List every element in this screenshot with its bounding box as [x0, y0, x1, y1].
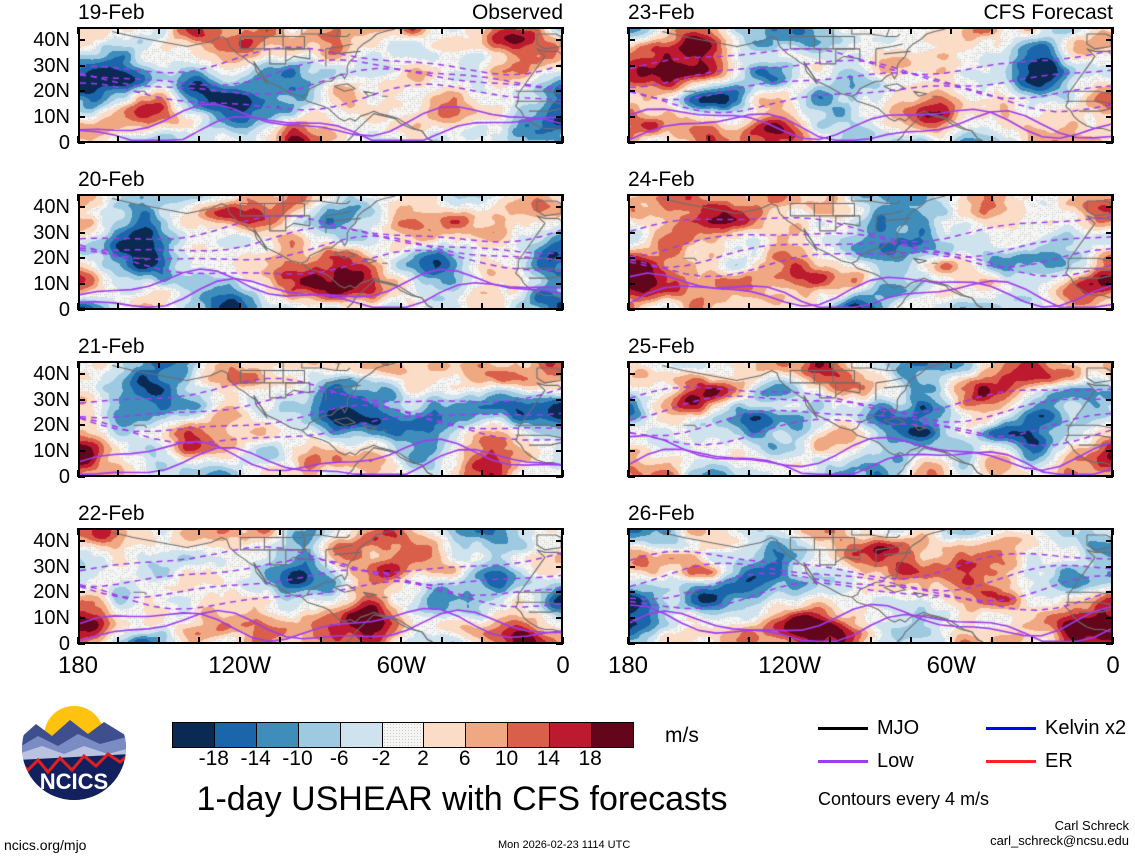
author-credit: Carl Schreck carl_schreck@ncsu.edu: [990, 818, 1129, 848]
x-tick: [748, 637, 750, 644]
x-tick: [708, 361, 710, 368]
y-tick: [556, 90, 563, 92]
y-tick: [78, 257, 85, 259]
x-tick: [360, 136, 362, 143]
x-tick: [117, 27, 119, 34]
y-tick: [1106, 591, 1113, 593]
y-tick: [628, 476, 635, 478]
y-axis-label: 30N: [0, 557, 70, 577]
colorbar-tick: 2: [417, 748, 429, 769]
x-tick: [870, 637, 872, 644]
author-name: Carl Schreck: [990, 818, 1129, 833]
y-tick: [78, 373, 85, 375]
y-tick: [1106, 65, 1113, 67]
y-axis-label: 40N: [0, 531, 70, 551]
x-tick: [829, 637, 831, 644]
y-axis-label: 30N: [0, 223, 70, 243]
x-axis-label: 180: [58, 654, 98, 678]
colorbar-segment: [424, 723, 466, 747]
legend-line-swatch: [986, 760, 1036, 763]
y-tick: [1106, 39, 1113, 41]
x-tick: [708, 637, 710, 644]
x-tick: [829, 303, 831, 310]
colorbar-segment: [215, 723, 257, 747]
x-tick: [320, 361, 322, 368]
x-tick: [950, 136, 952, 143]
y-tick: [556, 399, 563, 401]
x-tick: [562, 27, 564, 34]
shaded-field-canvas: [630, 530, 1111, 642]
x-tick: [1112, 27, 1114, 34]
y-tick: [1106, 540, 1113, 542]
y-tick: [628, 257, 635, 259]
y-tick: [1106, 309, 1113, 311]
legend-label: Low: [877, 751, 914, 771]
x-tick: [117, 361, 119, 368]
y-tick: [1106, 283, 1113, 285]
colorbar-tick: 18: [578, 748, 601, 769]
x-tick: [950, 194, 952, 201]
colorbar-tick: 14: [537, 748, 560, 769]
x-tick: [1112, 361, 1114, 368]
x-tick: [667, 136, 669, 143]
x-tick: [667, 528, 669, 535]
contour-interval-note: Contours every 4 m/s: [818, 790, 989, 808]
panel-date-label: 25-Feb: [628, 336, 695, 357]
x-tick: [279, 136, 281, 143]
page-title: 1-day USHEAR with CFS forecasts: [152, 782, 772, 816]
x-tick: [748, 194, 750, 201]
x-tick: [950, 528, 952, 535]
y-tick: [556, 591, 563, 593]
column-header-forecast: CFS Forecast: [983, 2, 1113, 23]
x-tick: [708, 528, 710, 535]
x-tick: [522, 303, 524, 310]
x-tick: [829, 470, 831, 477]
x-tick: [198, 194, 200, 201]
y-tick: [78, 65, 85, 67]
y-tick: [628, 116, 635, 118]
y-tick: [1106, 424, 1113, 426]
y-tick: [628, 643, 635, 645]
y-axis-label: 40N: [0, 197, 70, 217]
y-tick: [556, 206, 563, 208]
ncics-logo-svg: NCICS: [18, 696, 130, 800]
y-axis-label: 40N: [0, 364, 70, 384]
y-axis-label: 30N: [0, 56, 70, 76]
x-tick: [320, 27, 322, 34]
x-tick: [158, 303, 160, 310]
x-tick: [279, 528, 281, 535]
x-tick: [481, 27, 483, 34]
x-tick: [239, 303, 241, 310]
x-tick: [522, 528, 524, 535]
x-tick: [910, 361, 912, 368]
x-tick: [158, 637, 160, 644]
y-tick: [78, 450, 85, 452]
x-tick: [198, 303, 200, 310]
y-tick: [78, 116, 85, 118]
y-tick: [78, 476, 85, 478]
y-axis-label: 20N: [0, 248, 70, 268]
x-tick: [667, 194, 669, 201]
y-tick: [78, 424, 85, 426]
site-url[interactable]: ncics.org/mjo: [4, 838, 86, 852]
colorbar-unit-label: m/s: [665, 725, 699, 746]
y-tick: [78, 540, 85, 542]
x-tick: [991, 303, 993, 310]
y-tick: [78, 399, 85, 401]
x-tick: [441, 136, 443, 143]
x-tick: [400, 470, 402, 477]
panel-date-label: 21-Feb: [78, 336, 145, 357]
x-axis-label: 0: [556, 654, 569, 678]
y-tick: [628, 90, 635, 92]
x-tick: [1072, 528, 1074, 535]
x-tick: [748, 303, 750, 310]
x-tick: [522, 27, 524, 34]
x-tick: [360, 27, 362, 34]
x-tick: [239, 27, 241, 34]
colorbar-tick-labels: -18-14-10-6-226101418: [172, 748, 632, 774]
x-tick: [748, 361, 750, 368]
x-tick: [1031, 361, 1033, 368]
colorbar-segment: [341, 723, 383, 747]
y-tick: [556, 142, 563, 144]
x-tick: [789, 27, 791, 34]
legend-line-swatch: [986, 727, 1036, 730]
panel-date-label: 22-Feb: [78, 503, 145, 524]
panel-date-label: 24-Feb: [628, 169, 695, 190]
legend-label: ER: [1045, 751, 1073, 771]
x-tick: [870, 470, 872, 477]
x-tick: [1031, 194, 1033, 201]
y-tick: [1106, 617, 1113, 619]
y-tick: [78, 90, 85, 92]
map-panel-19-feb: [78, 27, 563, 143]
x-tick: [1072, 194, 1074, 201]
y-tick: [628, 617, 635, 619]
y-tick: [628, 142, 635, 144]
y-tick: [556, 65, 563, 67]
x-tick: [158, 361, 160, 368]
y-tick: [78, 142, 85, 144]
y-axis-label: 0: [0, 467, 70, 487]
y-axis-label: 10N: [0, 441, 70, 461]
x-axis-label: 120W: [208, 654, 271, 678]
x-tick: [279, 194, 281, 201]
shaded-field-canvas: [80, 530, 561, 642]
x-tick: [950, 303, 952, 310]
x-tick: [1031, 528, 1033, 535]
x-axis-label: 0: [1106, 654, 1119, 678]
y-tick: [1106, 566, 1113, 568]
x-tick: [117, 470, 119, 477]
x-tick: [991, 136, 993, 143]
x-tick: [158, 27, 160, 34]
column-header-observed: Observed: [472, 2, 563, 23]
y-axis-label: 30N: [0, 390, 70, 410]
x-tick: [1112, 528, 1114, 535]
y-tick: [78, 206, 85, 208]
x-tick: [627, 361, 629, 368]
y-tick: [628, 65, 635, 67]
x-tick: [870, 303, 872, 310]
x-tick: [667, 27, 669, 34]
x-tick: [400, 194, 402, 201]
x-tick: [910, 303, 912, 310]
colorbar-segment: [383, 723, 425, 747]
x-tick: [117, 637, 119, 644]
y-tick: [1106, 373, 1113, 375]
x-tick: [441, 470, 443, 477]
x-tick: [441, 303, 443, 310]
legend-label: MJO: [877, 718, 919, 738]
shaded-field-canvas: [80, 29, 561, 141]
x-tick: [667, 637, 669, 644]
x-tick: [158, 194, 160, 201]
x-axis-label: 120W: [758, 654, 821, 678]
colorbar-segment: [299, 723, 341, 747]
colorbar-tick: -2: [372, 748, 391, 769]
x-tick: [1112, 194, 1114, 201]
legend-label: Kelvin x2: [1045, 718, 1126, 738]
x-tick: [991, 194, 993, 201]
colorbar-tick: -10: [282, 748, 312, 769]
colorbar-segment: [550, 723, 592, 747]
x-tick: [400, 637, 402, 644]
shaded-field-canvas: [630, 196, 1111, 308]
author-email[interactable]: carl_schreck@ncsu.edu: [990, 833, 1129, 848]
ncics-logo[interactable]: NCICS: [18, 696, 130, 800]
y-tick: [556, 116, 563, 118]
x-axis-label: 60W: [927, 654, 976, 678]
x-tick: [239, 361, 241, 368]
x-tick: [910, 470, 912, 477]
x-tick: [748, 470, 750, 477]
x-tick: [239, 194, 241, 201]
x-tick: [1031, 303, 1033, 310]
y-tick: [628, 540, 635, 542]
x-tick: [158, 528, 160, 535]
x-tick: [829, 136, 831, 143]
y-axis-label: 0: [0, 300, 70, 320]
x-tick: [667, 470, 669, 477]
y-tick: [628, 424, 635, 426]
x-tick: [158, 470, 160, 477]
y-axis-label: 10N: [0, 107, 70, 127]
colorbar-segment: [508, 723, 550, 747]
x-tick: [829, 194, 831, 201]
x-tick: [481, 303, 483, 310]
y-tick: [556, 39, 563, 41]
panel-date-label: 26-Feb: [628, 503, 695, 524]
y-tick: [628, 283, 635, 285]
y-tick: [1106, 232, 1113, 234]
y-axis-label: 10N: [0, 608, 70, 628]
y-tick: [628, 591, 635, 593]
x-tick: [481, 637, 483, 644]
x-tick: [360, 361, 362, 368]
y-axis-label: 0: [0, 634, 70, 654]
ncics-logo-text: NCICS: [40, 769, 108, 794]
y-tick: [628, 232, 635, 234]
x-tick: [239, 136, 241, 143]
x-tick: [1072, 361, 1074, 368]
x-tick: [789, 470, 791, 477]
x-tick: [1031, 27, 1033, 34]
x-tick: [667, 361, 669, 368]
x-tick: [562, 194, 564, 201]
y-tick: [78, 39, 85, 41]
shaded-field-canvas: [630, 29, 1111, 141]
x-tick: [522, 470, 524, 477]
x-tick: [910, 528, 912, 535]
y-tick: [628, 206, 635, 208]
y-tick: [78, 232, 85, 234]
x-tick: [910, 136, 912, 143]
x-tick: [829, 528, 831, 535]
y-tick: [556, 424, 563, 426]
y-tick: [628, 450, 635, 452]
x-tick: [158, 136, 160, 143]
y-tick: [628, 309, 635, 311]
x-tick: [320, 637, 322, 644]
y-tick: [1106, 476, 1113, 478]
y-tick: [556, 540, 563, 542]
x-tick: [441, 528, 443, 535]
x-tick: [441, 27, 443, 34]
y-tick: [1106, 450, 1113, 452]
x-tick: [870, 528, 872, 535]
x-tick: [1072, 27, 1074, 34]
x-tick: [522, 637, 524, 644]
x-tick: [279, 470, 281, 477]
legend-line-swatch: [818, 760, 868, 763]
x-tick: [708, 194, 710, 201]
y-tick: [78, 591, 85, 593]
shaded-field-canvas: [80, 363, 561, 475]
x-tick: [991, 528, 993, 535]
x-tick: [320, 303, 322, 310]
y-tick: [556, 476, 563, 478]
x-tick: [481, 361, 483, 368]
x-tick: [950, 470, 952, 477]
x-tick: [1031, 136, 1033, 143]
x-tick: [789, 136, 791, 143]
legend-item-er: ER: [986, 751, 1073, 771]
x-tick: [198, 136, 200, 143]
x-tick: [441, 361, 443, 368]
x-tick: [117, 194, 119, 201]
y-axis-label: 20N: [0, 81, 70, 101]
x-tick: [1072, 136, 1074, 143]
x-tick: [279, 303, 281, 310]
y-tick: [1106, 257, 1113, 259]
x-tick: [481, 470, 483, 477]
x-tick: [991, 637, 993, 644]
y-tick: [1106, 643, 1113, 645]
x-tick: [239, 528, 241, 535]
x-tick: [870, 194, 872, 201]
x-tick: [239, 470, 241, 477]
x-tick: [950, 361, 952, 368]
x-tick: [360, 528, 362, 535]
x-tick: [279, 637, 281, 644]
x-tick: [708, 303, 710, 310]
x-tick: [77, 361, 79, 368]
colorbar: [172, 722, 634, 748]
x-tick: [627, 27, 629, 34]
x-tick: [1072, 637, 1074, 644]
colorbar-tick: -6: [330, 748, 349, 769]
x-tick: [708, 470, 710, 477]
legend-item-kelvin-x2: Kelvin x2: [986, 718, 1126, 738]
x-tick: [748, 528, 750, 535]
y-tick: [78, 283, 85, 285]
x-tick: [198, 470, 200, 477]
y-tick: [78, 309, 85, 311]
x-tick: [320, 528, 322, 535]
x-tick: [910, 27, 912, 34]
y-tick: [628, 399, 635, 401]
y-tick: [78, 566, 85, 568]
x-tick: [360, 194, 362, 201]
x-tick: [320, 194, 322, 201]
y-tick: [556, 450, 563, 452]
x-tick: [279, 27, 281, 34]
map-panel-22-feb: [78, 528, 563, 644]
x-tick: [950, 27, 952, 34]
timestamp: Mon 2026-02-23 1114 UTC: [498, 840, 630, 851]
y-axis-label: 10N: [0, 274, 70, 294]
colorbar-tick: 6: [459, 748, 471, 769]
y-tick: [1106, 142, 1113, 144]
map-panel-23-feb: [628, 27, 1113, 143]
x-tick: [991, 361, 993, 368]
x-tick: [481, 194, 483, 201]
x-tick: [991, 470, 993, 477]
x-tick: [1031, 470, 1033, 477]
colorbar-segment: [466, 723, 508, 747]
y-tick: [628, 373, 635, 375]
colorbar-segment: [173, 723, 215, 747]
x-tick: [400, 27, 402, 34]
y-tick: [556, 232, 563, 234]
x-tick: [77, 528, 79, 535]
x-tick: [400, 361, 402, 368]
colorbar-tick: 10: [495, 748, 518, 769]
map-panel-25-feb: [628, 361, 1113, 477]
x-tick: [870, 27, 872, 34]
x-tick: [562, 361, 564, 368]
y-tick: [628, 566, 635, 568]
colorbar-segment: [257, 723, 299, 747]
x-tick: [789, 637, 791, 644]
y-tick: [628, 39, 635, 41]
y-tick: [78, 617, 85, 619]
x-axis-label: 180: [608, 654, 648, 678]
panel-date-label: 19-Feb: [78, 2, 145, 23]
colorbar-tick: -14: [240, 748, 270, 769]
x-axis-label: 60W: [377, 654, 426, 678]
x-tick: [829, 361, 831, 368]
x-tick: [748, 27, 750, 34]
y-tick: [556, 617, 563, 619]
x-tick: [441, 637, 443, 644]
x-tick: [522, 361, 524, 368]
x-tick: [77, 194, 79, 201]
